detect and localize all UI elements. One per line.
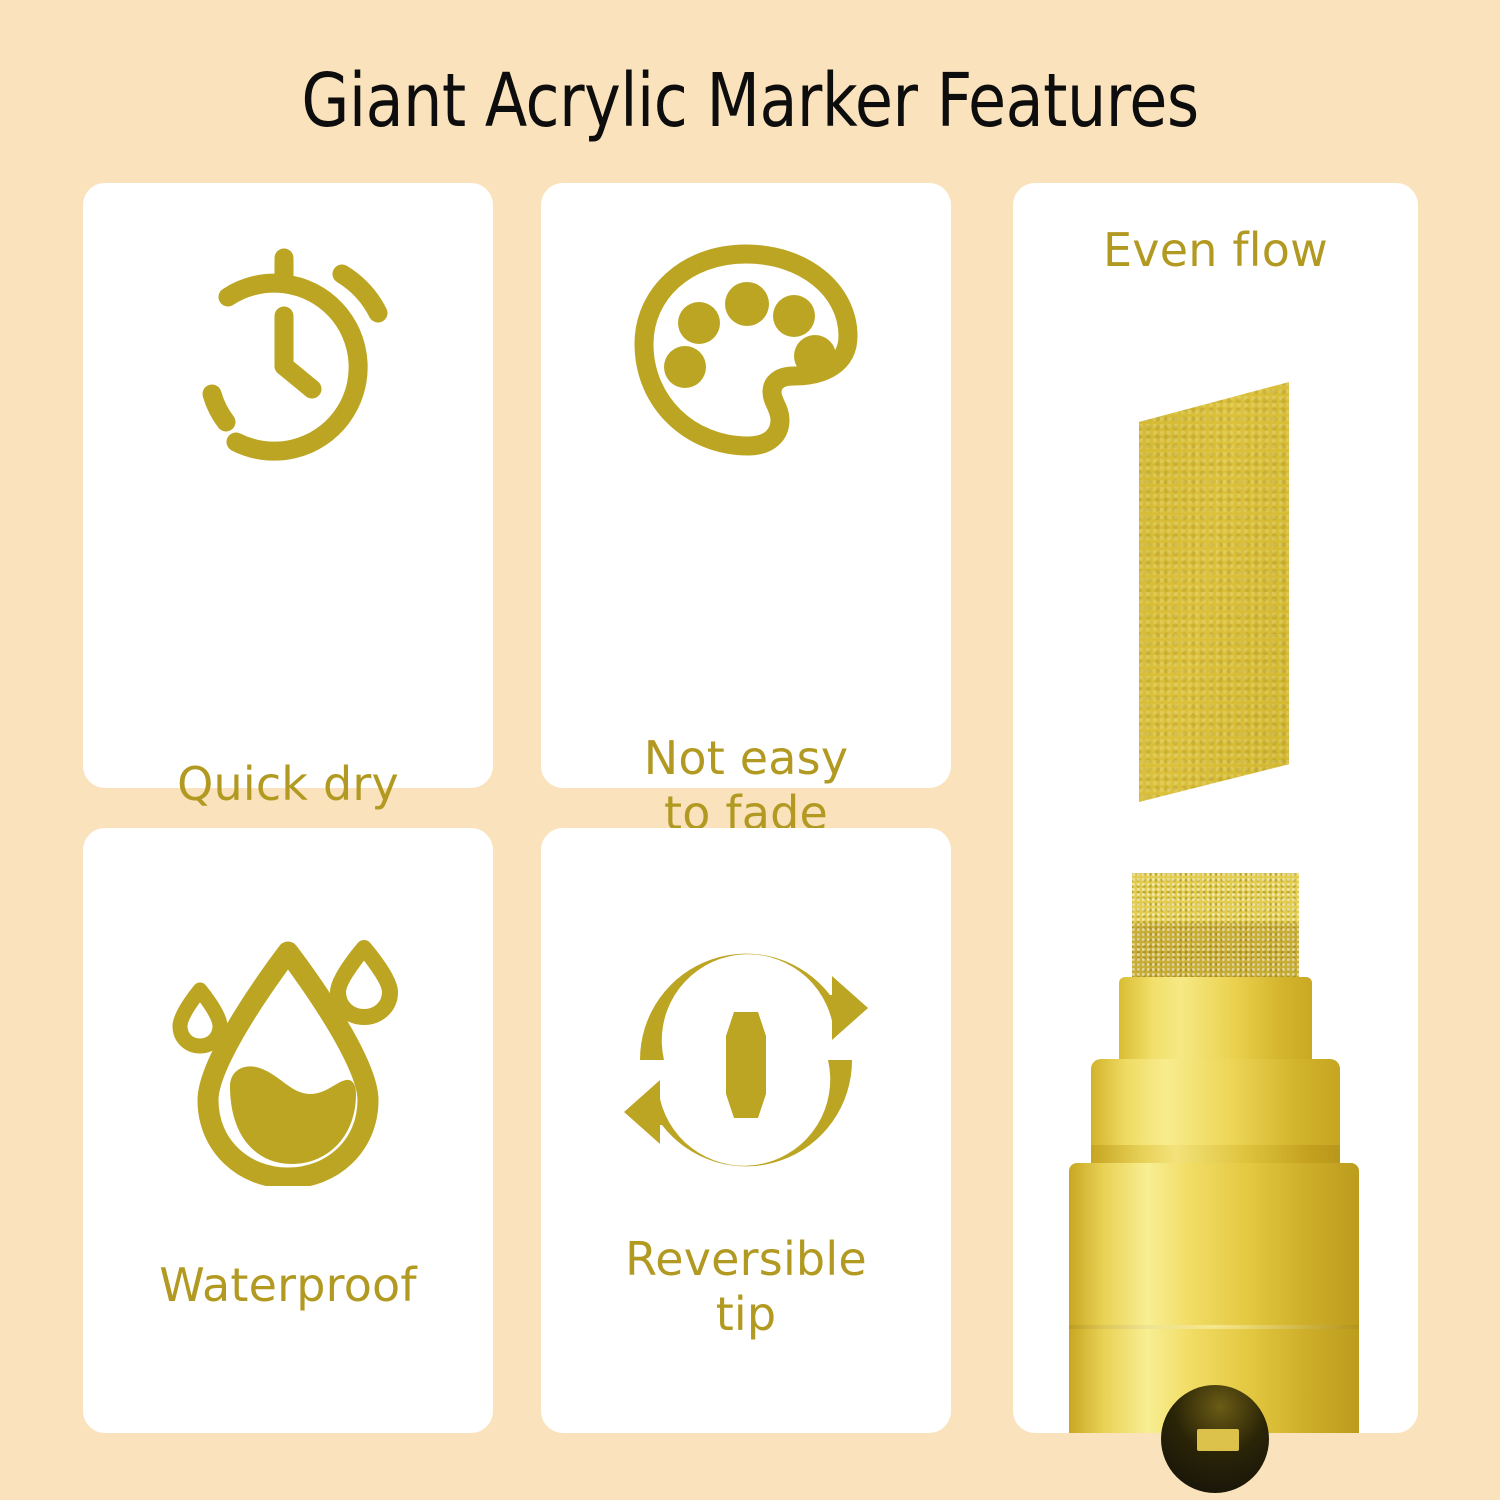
marker-chisel-nib — [1132, 873, 1299, 977]
feature-card-quick-dry: Quick dry — [83, 183, 493, 788]
feature-label-quick-dry: Quick dry — [83, 757, 493, 812]
stopwatch-icon — [83, 221, 493, 481]
feature-label-line-1: Not easy — [644, 731, 849, 785]
feature-card-waterproof: Waterproof — [83, 828, 493, 1433]
refresh-cycle-icon — [541, 920, 951, 1200]
gold-paint-stroke-swatch — [1139, 382, 1289, 802]
feature-card-not-easy-to-fade: Not easy to fade — [541, 183, 951, 788]
feature-label-not-easy-to-fade: Not easy to fade — [541, 731, 951, 841]
water-droplet-icon — [83, 920, 493, 1200]
page-title: Giant Acrylic Marker Features — [53, 58, 1448, 144]
paint-palette-icon — [541, 221, 951, 481]
feature-label-reversible-tip: Reversible tip — [541, 1232, 951, 1342]
showcase-card-even-flow: Even flow — [1013, 183, 1418, 1433]
marker-window-tab — [1197, 1429, 1239, 1451]
feature-label-line-2: tip — [716, 1287, 777, 1341]
feature-card-reversible-tip: Reversible tip — [541, 828, 951, 1433]
showcase-label-even-flow: Even flow — [1013, 223, 1418, 277]
gold-acrylic-marker — [1013, 873, 1418, 1433]
marker-barrel-seam — [1069, 1325, 1359, 1329]
feature-label-line-1: Reversible — [625, 1232, 867, 1286]
feature-label-waterproof: Waterproof — [83, 1258, 493, 1313]
infographic-page: Giant Acrylic Marker Features Quick dry — [0, 0, 1500, 1500]
marker-nib-holder — [1119, 977, 1312, 1067]
